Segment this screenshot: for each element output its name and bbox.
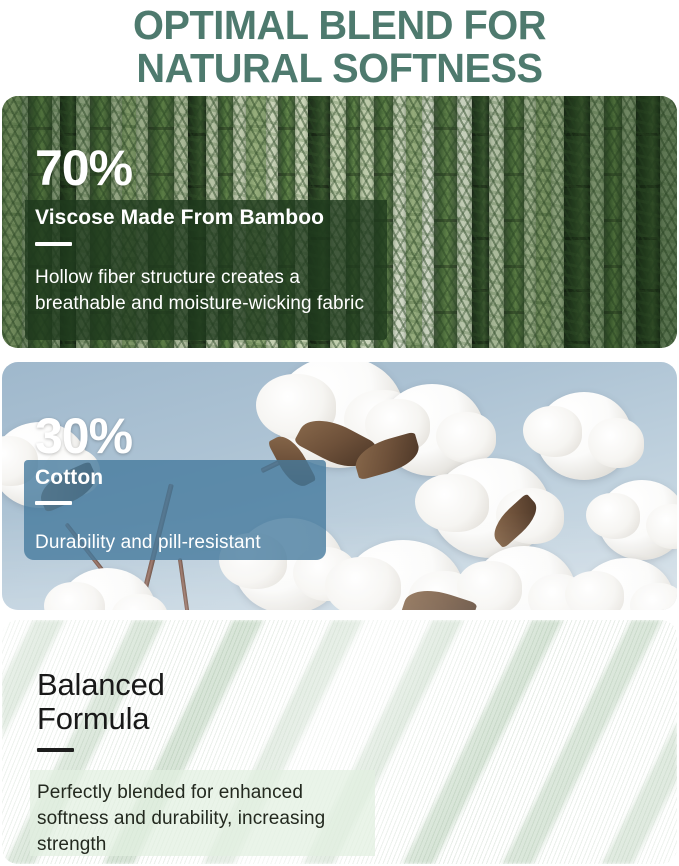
panel-bamboo-viscose: 70% Viscose Made From Bamboo Hollow fibe… <box>2 96 677 348</box>
page-title-line-1: OPTIMAL BLEND FOR <box>10 4 669 47</box>
cotton-subtitle: Cotton <box>35 466 103 490</box>
blend-heading-line-2: Formula <box>37 702 149 736</box>
panel-balanced-formula: Balanced Formula Perfectly blended for e… <box>2 620 677 864</box>
bamboo-subtitle: Viscose Made From Bamboo <box>35 206 324 230</box>
blend-description: Perfectly blended for enhanced softness … <box>37 780 377 858</box>
blend-heading-line-1: Balanced <box>37 668 165 702</box>
bamboo-percentage: 70% <box>35 142 132 194</box>
bamboo-description: Hollow fiber structure creates a breatha… <box>35 265 387 317</box>
cotton-divider <box>35 501 72 505</box>
page-title: OPTIMAL BLEND FOR NATURAL SOFTNESS <box>0 0 679 90</box>
page-title-line-2: NATURAL SOFTNESS <box>10 47 669 90</box>
cotton-description: Durability and pill-resistant <box>35 530 325 556</box>
bamboo-divider <box>35 242 72 246</box>
blend-divider <box>37 748 74 752</box>
panel-cotton: 30% Cotton Durability and pill-resistant <box>2 362 677 610</box>
cotton-percentage: 30% <box>35 410 132 462</box>
